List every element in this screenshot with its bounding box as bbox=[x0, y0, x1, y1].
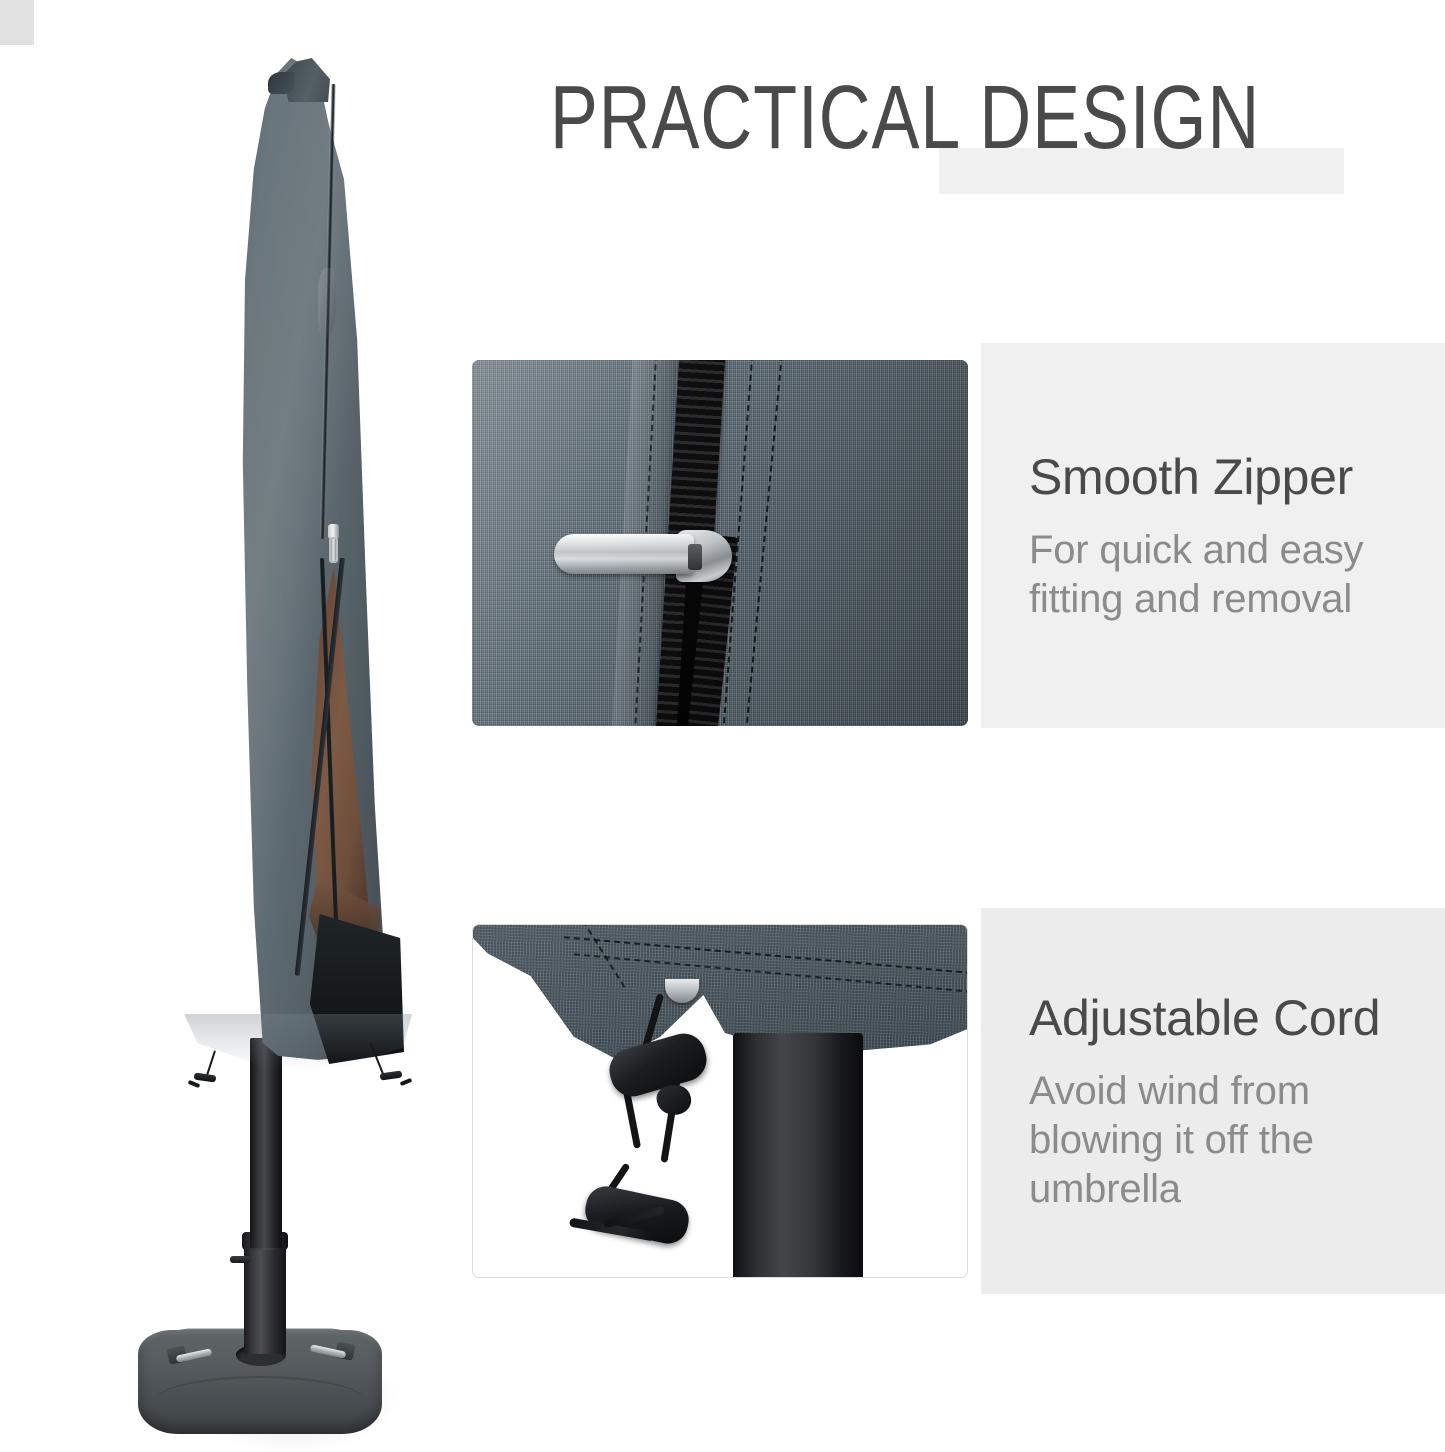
feature-body-line: For quick and easy bbox=[1029, 526, 1429, 575]
feature-body-2: Avoid wind from blowing it off the umbre… bbox=[1029, 1067, 1429, 1214]
feature-title-2: Adjustable Cord bbox=[1029, 989, 1429, 1047]
hero-product-image bbox=[80, 50, 440, 1440]
adjustable-cord-closeup-photo bbox=[472, 924, 968, 1278]
base-bolt-left bbox=[168, 1347, 214, 1363]
feature-body-line: umbrella bbox=[1029, 1165, 1429, 1214]
hem-toggle-right bbox=[380, 1071, 403, 1081]
feature-body-line: blowing it off the bbox=[1029, 1116, 1429, 1165]
hem-cord-tip-right bbox=[400, 1078, 413, 1086]
base-bolt-right bbox=[308, 1343, 354, 1359]
feature-text-panel-1: Smooth Zipper For quick and easy fitting… bbox=[981, 343, 1445, 728]
page-title-block: PRACTICAL DESIGN bbox=[455, 62, 1355, 192]
cover-top-tab bbox=[268, 72, 294, 94]
feature-row-adjustable-cord: Adjustable Cord Avoid wind from blowing … bbox=[455, 908, 1445, 1294]
cover-zipper-pull-icon bbox=[328, 524, 339, 564]
pole-lower-section bbox=[244, 1242, 286, 1354]
feature-row-smooth-zipper: Smooth Zipper For quick and easy fitting… bbox=[455, 343, 1445, 728]
parasol-cover bbox=[190, 58, 410, 1068]
feature-body-1: For quick and easy fitting and removal bbox=[1029, 526, 1429, 624]
umbrella-pole-in-photo bbox=[733, 1033, 863, 1278]
hem-cord-tip-left bbox=[188, 1080, 201, 1088]
zipper-closeup-photo bbox=[472, 360, 968, 726]
feature-text-panel-2: Adjustable Cord Avoid wind from blowing … bbox=[981, 908, 1445, 1294]
zipper-photo-sheen bbox=[472, 360, 968, 726]
cover-fabric-fold bbox=[318, 268, 336, 338]
feature-body-line: Avoid wind from bbox=[1029, 1067, 1429, 1116]
corner-accent-block bbox=[0, 0, 34, 45]
feature-title-1: Smooth Zipper bbox=[1029, 448, 1429, 506]
feature-body-line: fitting and removal bbox=[1029, 575, 1429, 624]
pole-thumb-screw bbox=[230, 1256, 250, 1263]
hem-toggle-left bbox=[194, 1073, 217, 1083]
page-title: PRACTICAL DESIGN bbox=[545, 62, 1265, 174]
pole-upper-section bbox=[250, 1038, 282, 1248]
